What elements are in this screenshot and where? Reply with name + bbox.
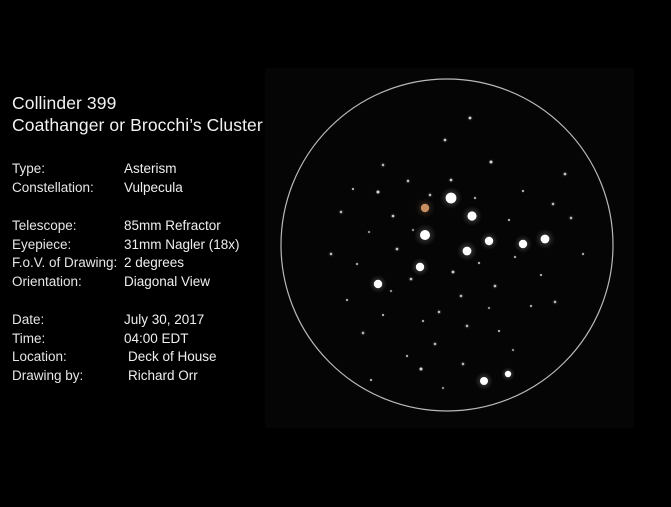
field-label-fov: F.o.V. of Drawing: — [12, 254, 124, 273]
star-core — [340, 211, 342, 213]
star-faint-42 — [389, 289, 393, 293]
star-core — [478, 262, 480, 264]
star-bright-01 — [440, 187, 462, 209]
star-core — [421, 204, 429, 212]
observation-info-panel: Collinder 399 Coathanger or Brocchi’s Cl… — [12, 92, 270, 405]
object-info-group: Type: Asterism Constellation: Vulpecula — [12, 160, 270, 197]
star-bright-04 — [457, 241, 477, 261]
session-info-group: Date: July 30, 2017 Time: 04:00 EDT Loca… — [12, 311, 270, 385]
field-label-date: Date: — [12, 311, 124, 330]
star-core — [467, 211, 476, 220]
star-core — [462, 363, 464, 365]
field-value-date: July 30, 2017 — [124, 311, 204, 330]
star-core — [406, 355, 408, 357]
star-core — [392, 215, 395, 218]
star-faint-16 — [380, 162, 386, 168]
star-core — [370, 379, 372, 381]
star-faint-44 — [511, 348, 515, 352]
star-bright-07 — [535, 229, 555, 249]
star-faint-03 — [405, 178, 411, 184]
star-core — [390, 290, 392, 292]
star-faint-04 — [442, 137, 448, 143]
star-core — [396, 248, 399, 251]
field-label-orientation: Orientation: — [12, 273, 124, 292]
star-bright-02 — [462, 206, 482, 226]
field-value-location: Deck of House — [124, 348, 217, 367]
star-faint-33 — [460, 361, 466, 367]
field-row-fov: F.o.V. of Drawing: 2 degrees — [12, 254, 270, 273]
star-faint-20 — [477, 261, 481, 265]
page-title-catalog: Collinder 399 — [12, 92, 270, 114]
field-value-author: Richard Orr — [124, 367, 198, 386]
star-faint-18 — [408, 276, 414, 282]
star-field-drawing — [265, 68, 634, 428]
star-faint-25 — [345, 298, 349, 302]
star-core — [519, 240, 527, 248]
field-label-telescope: Telescope: — [12, 217, 124, 236]
star-core — [442, 387, 444, 389]
star-core — [330, 253, 332, 255]
equipment-info-group: Telescope: 85mm Refractor Eyepiece: 31mm… — [12, 217, 270, 291]
star-core — [382, 164, 384, 166]
star-faint-45 — [581, 252, 585, 256]
star-core — [505, 371, 511, 377]
field-row-author: Drawing by: Richard Orr — [12, 367, 270, 386]
eyepiece-drawing-panel — [265, 68, 634, 428]
field-value-time: 04:00 EDT — [124, 330, 189, 349]
star-core — [485, 237, 493, 245]
star-faint-38 — [513, 255, 517, 259]
star-core — [377, 191, 380, 194]
star-core — [412, 229, 414, 231]
star-faint-14 — [328, 251, 334, 257]
sky-background — [265, 68, 634, 428]
star-faint-26 — [360, 330, 366, 336]
star-bright-10 — [475, 372, 493, 390]
star-core — [541, 235, 550, 244]
star-faint-31 — [418, 366, 424, 372]
field-row-time: Time: 04:00 EDT — [12, 330, 270, 349]
star-faint-34 — [497, 329, 501, 333]
star-bright-05 — [480, 232, 498, 250]
field-value-telescope: 85mm Refractor — [124, 217, 221, 236]
star-bright-11 — [501, 367, 515, 381]
star-core — [374, 280, 382, 288]
star-bright-03 — [414, 224, 436, 246]
object-title-block: Collinder 399 Coathanger or Brocchi’s Cl… — [12, 92, 270, 136]
star-faint-47 — [487, 306, 491, 310]
star-bright-06 — [514, 235, 532, 253]
star-core — [552, 203, 554, 205]
star-faint-39 — [507, 218, 511, 222]
star-faint-48 — [441, 386, 445, 390]
field-value-eyepiece: 31mm Nagler (18x) — [124, 236, 240, 255]
star-core — [490, 161, 493, 164]
star-bright-08 — [411, 258, 429, 276]
page-title-common-name: Coathanger or Brocchi’s Cluster — [12, 114, 270, 136]
star-faint-19 — [450, 269, 456, 275]
drawing-page: Collinder 399 Coathanger or Brocchi’s Cl… — [0, 0, 671, 507]
star-faint-06 — [488, 159, 494, 165]
field-label-type: Type: — [12, 160, 124, 179]
star-core — [368, 231, 370, 233]
field-row-orientation: Orientation: Diagonal View — [12, 273, 270, 292]
field-row-type: Type: Asterism — [12, 160, 270, 179]
star-core — [352, 188, 354, 190]
field-value-constellation: Vulpecula — [124, 179, 183, 198]
field-row-location: Location: Deck of House — [12, 348, 270, 367]
star-faint-46 — [367, 230, 371, 234]
star-core — [570, 217, 572, 219]
star-faint-09 — [562, 171, 568, 177]
field-value-type: Asterism — [124, 160, 177, 179]
star-faint-08 — [427, 192, 433, 198]
star-core — [582, 253, 584, 255]
star-faint-10 — [550, 201, 556, 207]
star-faint-05 — [467, 115, 473, 121]
star-faint-21 — [492, 283, 498, 289]
star-core — [508, 219, 510, 221]
star-core — [466, 325, 468, 327]
field-label-location: Location: — [12, 348, 124, 367]
star-core — [382, 314, 384, 316]
star-amber-orange — [415, 198, 435, 218]
star-faint-29 — [421, 319, 425, 323]
star-bright-09 — [369, 275, 387, 293]
field-label-time: Time: — [12, 330, 124, 349]
star-core — [407, 180, 409, 182]
star-faint-37 — [539, 273, 543, 277]
star-faint-22 — [458, 293, 464, 299]
star-faint-23 — [436, 309, 442, 315]
star-core — [444, 139, 447, 142]
field-row-telescope: Telescope: 85mm Refractor — [12, 217, 270, 236]
star-faint-24 — [381, 313, 385, 317]
star-core — [540, 274, 542, 276]
star-core — [494, 285, 497, 288]
field-row-eyepiece: Eyepiece: 31mm Nagler (18x) — [12, 236, 270, 255]
star-core — [514, 256, 516, 258]
star-core — [356, 263, 358, 265]
star-faint-17 — [394, 246, 400, 252]
star-core — [446, 193, 457, 204]
star-faint-13 — [338, 209, 344, 215]
star-core — [416, 263, 424, 271]
star-core — [452, 271, 455, 274]
field-label-constellation: Constellation: — [12, 179, 124, 198]
star-faint-02 — [390, 213, 396, 219]
star-faint-28 — [432, 341, 438, 347]
star-core — [512, 349, 514, 351]
star-core — [434, 343, 436, 345]
star-core — [438, 311, 440, 313]
star-core — [474, 197, 476, 199]
star-core — [362, 332, 364, 334]
star-faint-30 — [464, 323, 470, 329]
star-core — [463, 247, 472, 256]
star-faint-41 — [355, 262, 359, 266]
star-faint-36 — [552, 299, 558, 305]
star-faint-01 — [375, 189, 381, 195]
star-faint-32 — [369, 378, 373, 382]
star-core — [346, 299, 348, 301]
star-core — [488, 307, 490, 309]
star-core — [460, 295, 462, 297]
star-faint-15 — [351, 187, 355, 191]
star-core — [564, 173, 567, 176]
star-core — [420, 368, 423, 371]
star-core — [530, 305, 532, 307]
star-faint-27 — [405, 354, 409, 358]
star-core — [410, 278, 413, 281]
star-core — [522, 190, 524, 192]
star-core — [450, 179, 453, 182]
star-faint-11 — [568, 215, 574, 221]
star-faint-07 — [448, 177, 454, 183]
star-faint-35 — [529, 304, 533, 308]
star-faint-43 — [473, 196, 477, 200]
field-label-author: Drawing by: — [12, 367, 124, 386]
field-row-date: Date: July 30, 2017 — [12, 311, 270, 330]
star-core — [429, 194, 431, 196]
field-value-fov: 2 degrees — [124, 254, 184, 273]
star-faint-40 — [411, 228, 415, 232]
star-core — [422, 320, 424, 322]
star-faint-12 — [521, 189, 525, 193]
star-core — [420, 230, 430, 240]
field-row-constellation: Constellation: Vulpecula — [12, 179, 270, 198]
star-core — [480, 377, 488, 385]
field-value-orientation: Diagonal View — [124, 273, 210, 292]
star-core — [469, 117, 472, 120]
field-label-eyepiece: Eyepiece: — [12, 236, 124, 255]
star-core — [498, 330, 500, 332]
star-core — [554, 301, 556, 303]
